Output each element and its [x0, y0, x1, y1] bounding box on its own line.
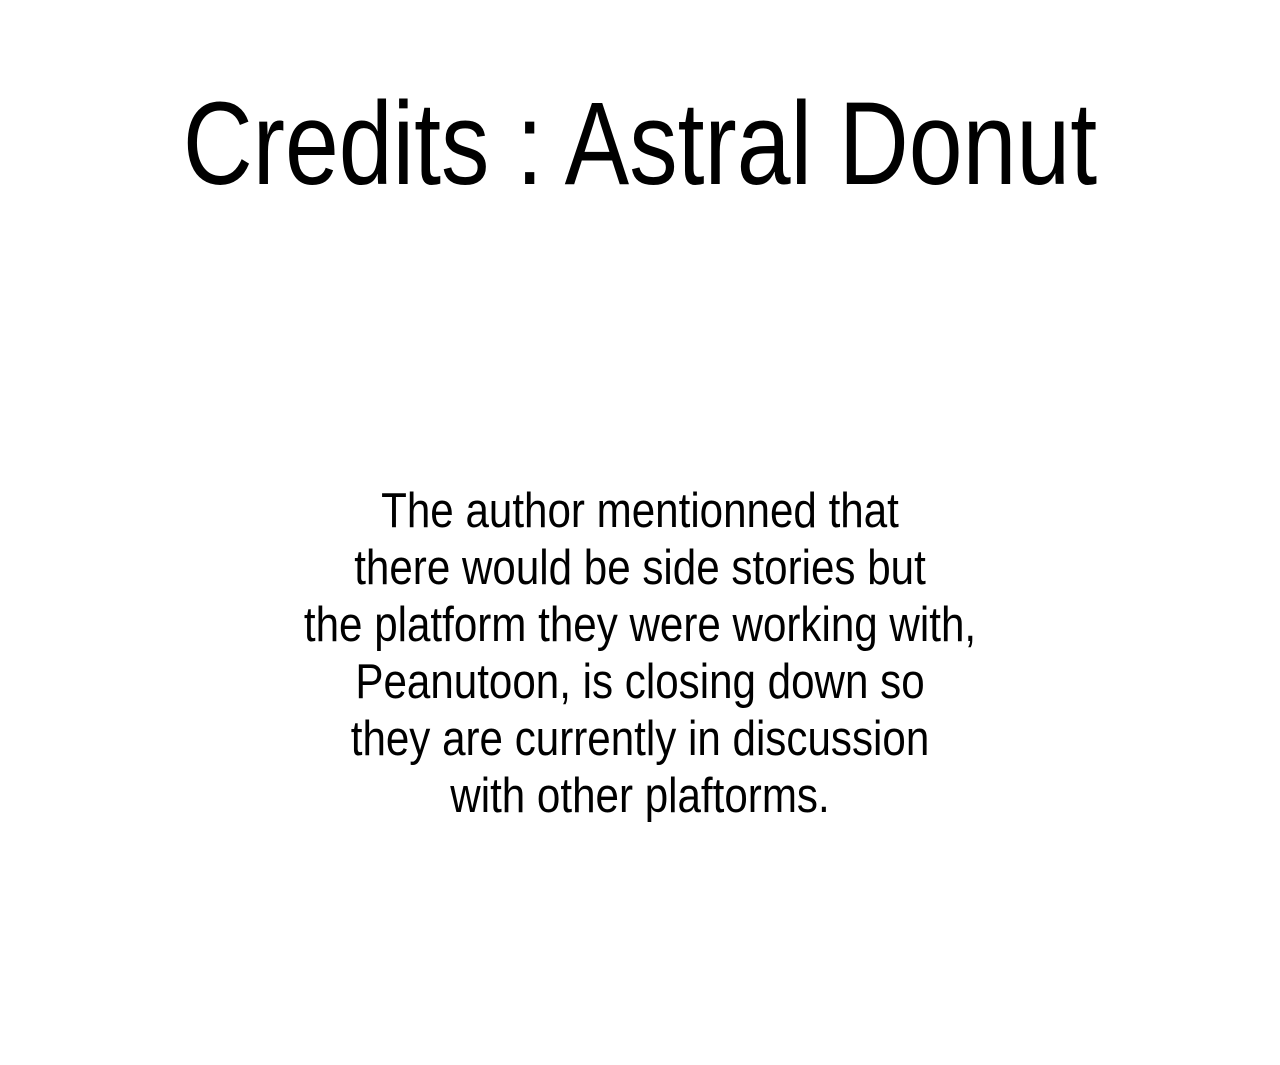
- body-line: with other plaftorms.: [90, 768, 1191, 825]
- body-line: the platform they were working with,: [90, 597, 1191, 654]
- slide-canvas: Credits : Astral Donut The author mentio…: [0, 0, 1280, 1065]
- slide-body-text: The author mentionned that there would b…: [90, 483, 1191, 825]
- body-line: there would be side stories but: [90, 540, 1191, 597]
- slide-title: Credits : Astral Donut: [115, 82, 1165, 207]
- body-line: they are currently in discussion: [90, 711, 1191, 768]
- body-line: Peanutoon, is closing down so: [90, 654, 1191, 711]
- body-line: The author mentionned that: [90, 483, 1191, 540]
